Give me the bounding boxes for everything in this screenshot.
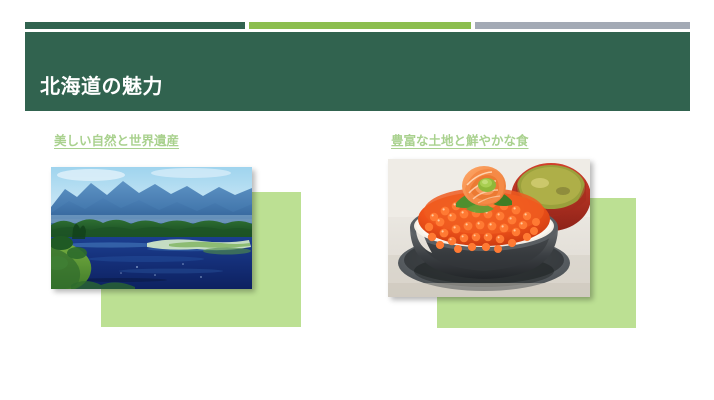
lake-landscape-photo [51,167,252,289]
ikura-rice-bowl-photo [388,159,590,297]
slide-title: 北海道の魅力 [40,76,163,98]
accent-bar-gray [475,22,690,29]
subtitle-right: 豊富な土地と鮮やかな食 [391,133,529,151]
accent-bar-light-green [249,22,471,29]
accent-bar-dark-green [25,22,245,29]
slide: 北海道の魅力 美しい自然と世界遺産 [0,0,714,400]
title-band: 北海道の魅力 [25,32,690,111]
figure-left [51,167,301,343]
subtitle-left: 美しい自然と世界遺産 [54,133,179,151]
accent-bar-group [0,22,714,29]
figure-right [388,159,638,335]
